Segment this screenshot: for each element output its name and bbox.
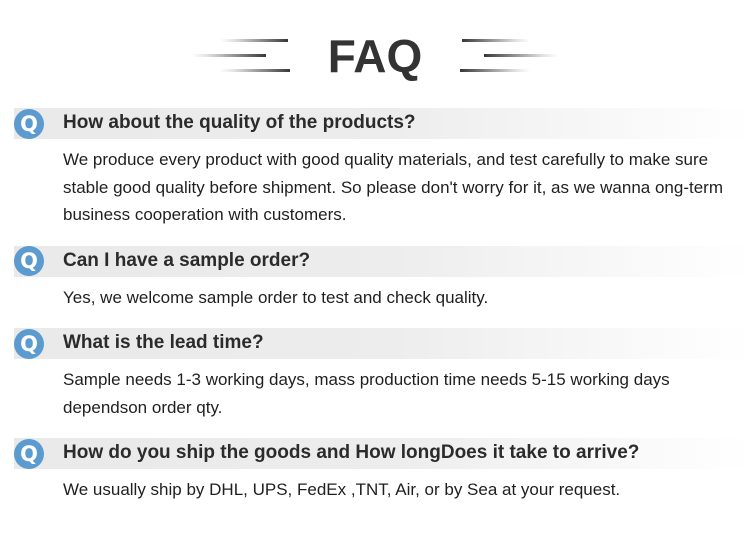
- faq-item: Q What is the lead time? Sample needs 1-…: [0, 328, 750, 421]
- faq-question-row[interactable]: Q How do you ship the goods and How long…: [0, 438, 750, 469]
- faq-answer-text: We usually ship by DHL, UPS, FedEx ,TNT,…: [63, 476, 736, 504]
- speed-lines-right-icon: [448, 33, 558, 79]
- faq-question-row[interactable]: Q How about the quality of the products?: [0, 108, 750, 139]
- faq-question-text: What is the lead time?: [63, 333, 264, 354]
- faq-answer-text: Yes, we welcome sample order to test and…: [63, 284, 736, 312]
- faq-answer-text: Sample needs 1-3 working days, mass prod…: [63, 366, 736, 421]
- faq-question-text: Can I have a sample order?: [63, 251, 310, 272]
- faq-list: Q How about the quality of the products?…: [0, 108, 750, 504]
- faq-item: Q Can I have a sample order? Yes, we wel…: [0, 246, 750, 312]
- faq-item: Q How about the quality of the products?…: [0, 108, 750, 229]
- faq-item: Q How do you ship the goods and How long…: [0, 438, 750, 504]
- speed-lines-left-icon: [192, 33, 302, 79]
- question-badge-icon: Q: [14, 246, 44, 276]
- faq-answer-text: We produce every product with good quali…: [63, 146, 736, 229]
- faq-header: FAQ: [0, 0, 750, 108]
- faq-question-text: How about the quality of the products?: [63, 113, 416, 134]
- question-badge-icon: Q: [14, 109, 44, 139]
- faq-question-row[interactable]: Q Can I have a sample order?: [0, 246, 750, 277]
- question-badge-icon: Q: [14, 329, 44, 359]
- page-title: FAQ: [302, 33, 449, 79]
- faq-question-text: How do you ship the goods and How longDo…: [63, 443, 639, 464]
- faq-question-row[interactable]: Q What is the lead time?: [0, 328, 750, 359]
- question-badge-icon: Q: [14, 439, 44, 469]
